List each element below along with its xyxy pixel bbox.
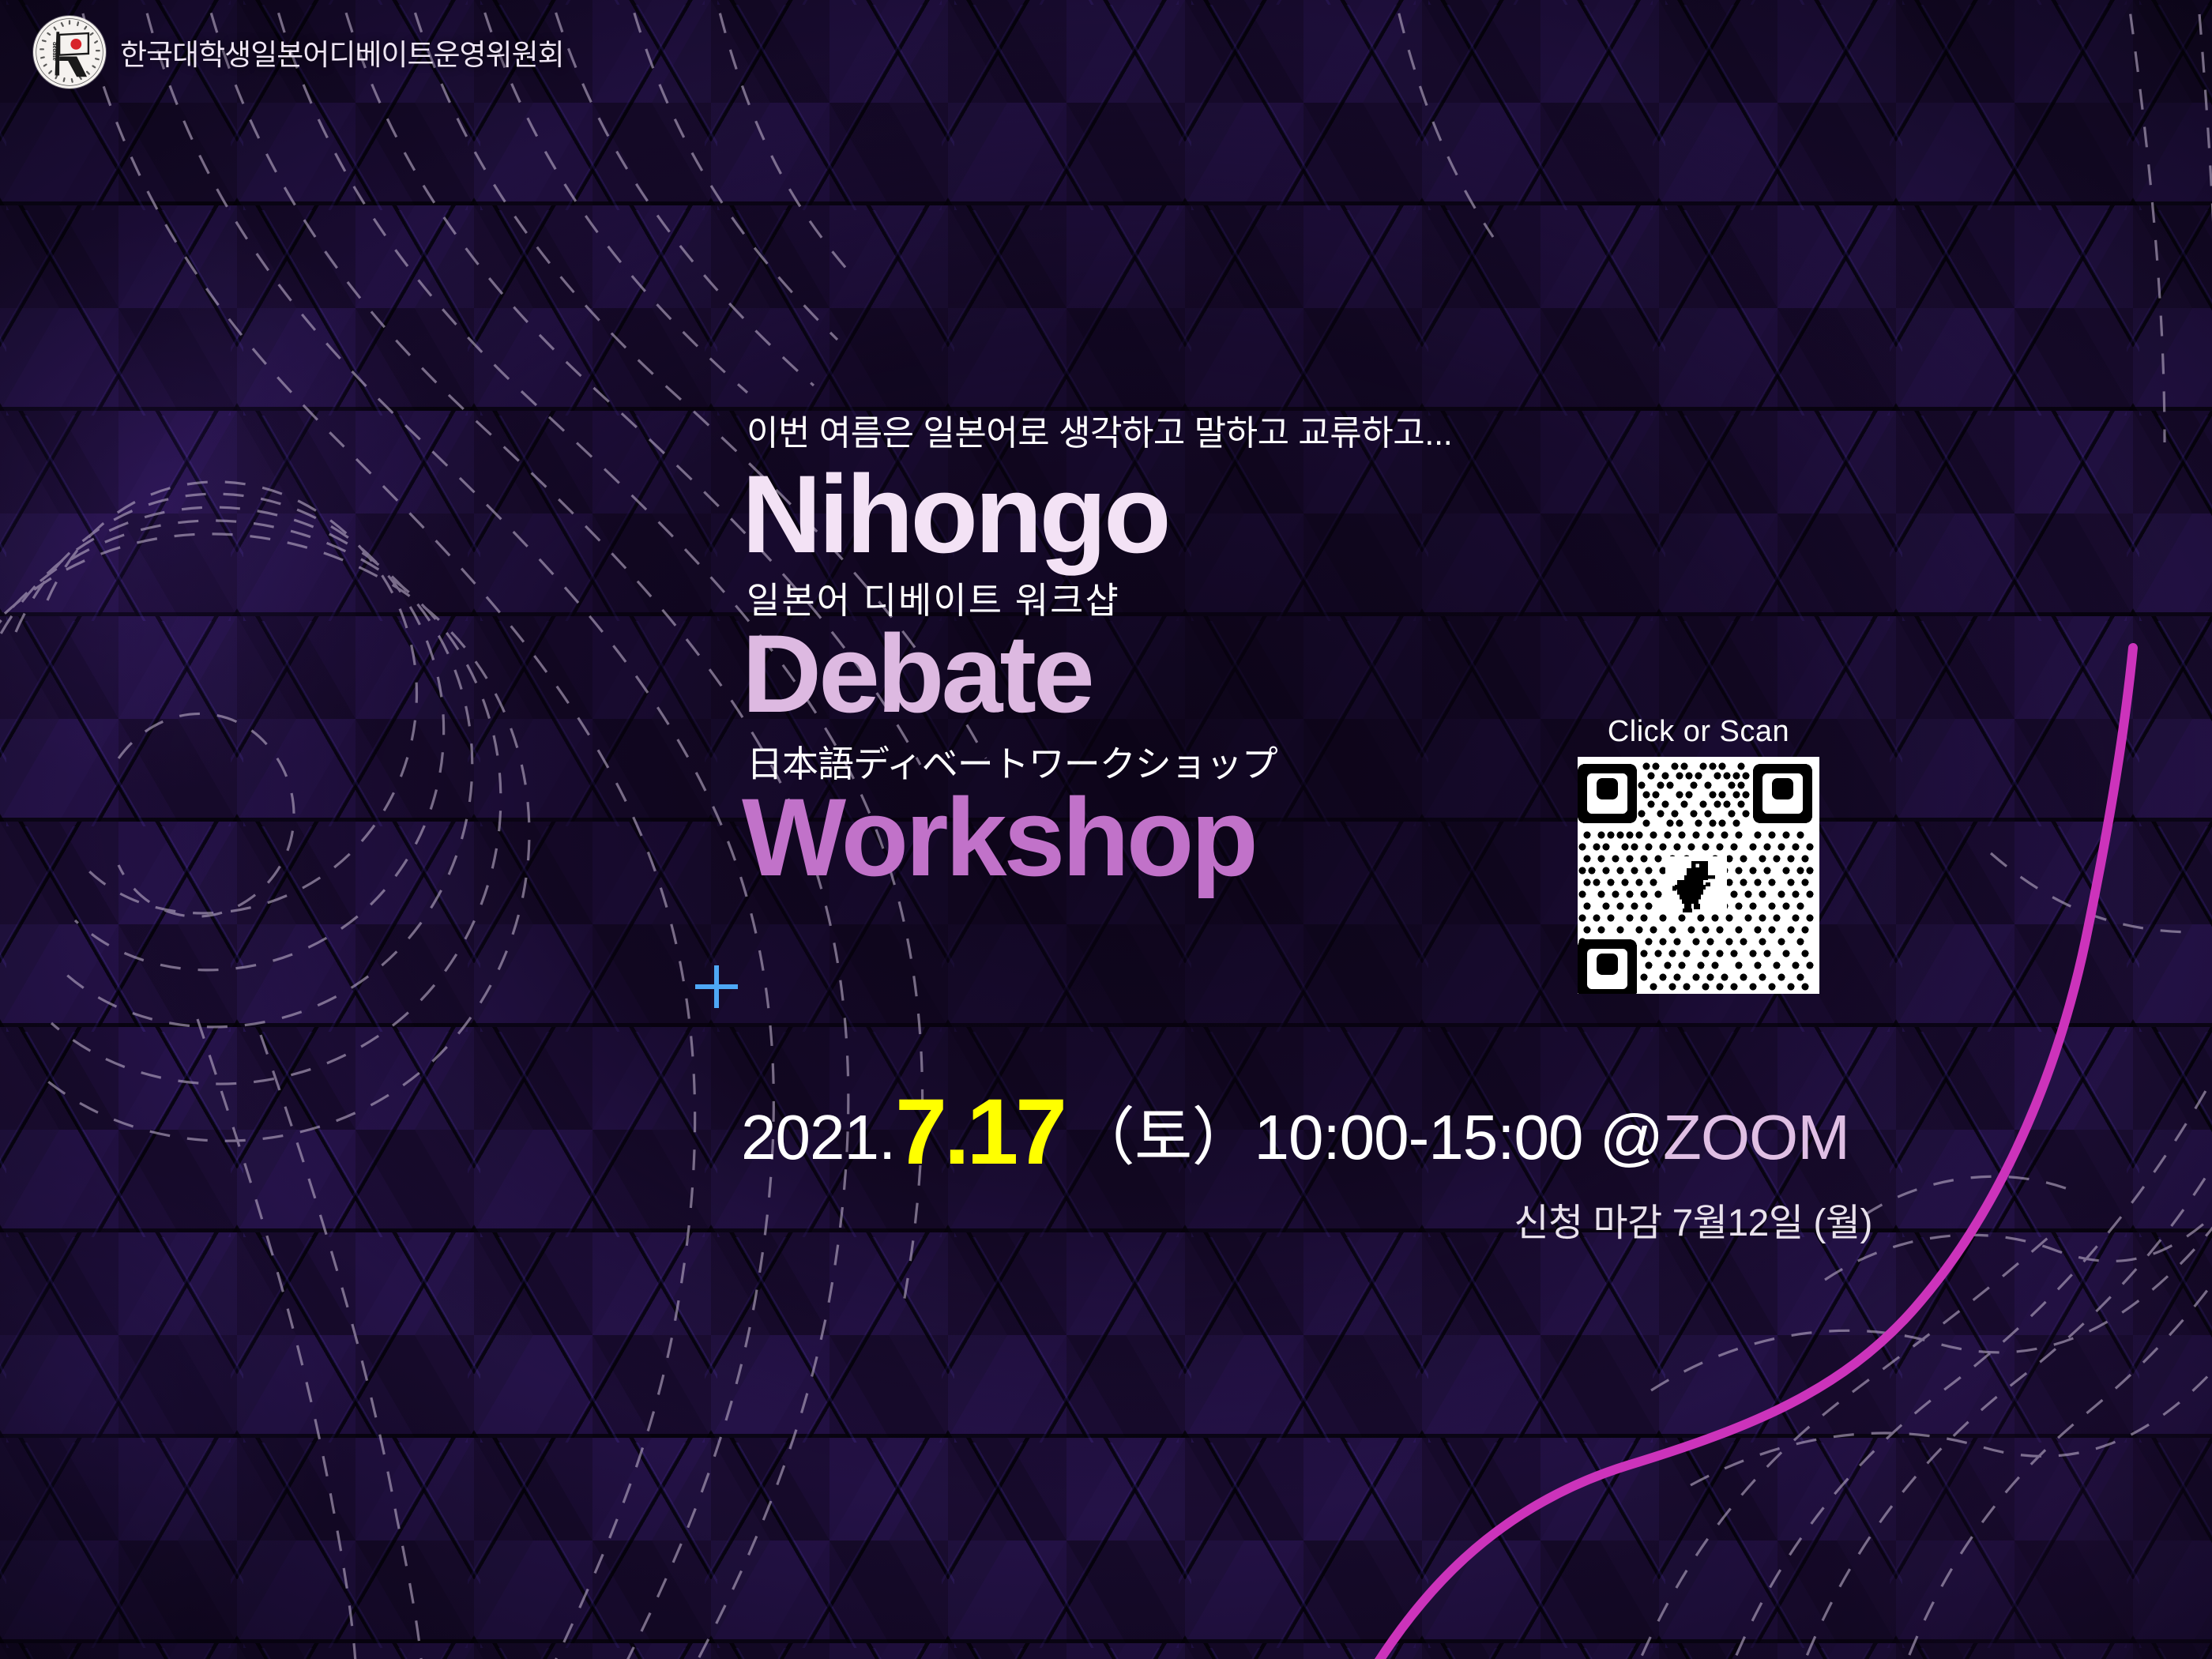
application-deadline: 신청 마감 7월12일 (월) [1514,1191,1872,1247]
organization-logo-icon: debate [33,16,106,88]
header: debate 한국대학생일본어디베이트운영위원회 [33,16,564,88]
event-date-line: 2021. 7.17 （토）10:00-15:00 @ ZOOM [741,1081,1849,1178]
event-time: （토）10:00-15:00 @ [1072,1086,1663,1178]
qr-section[interactable]: Click or Scan [1568,715,1829,994]
headline-debate: Debate [742,621,1774,727]
organization-name: 한국대학생일본어디베이트운영위원회 [120,31,564,73]
tagline: 이번 여름은 일본어로 생각하고 말하고 교류하고... [747,404,1774,455]
headline-nihongo: Nihongo [742,461,1774,567]
qr-label: Click or Scan [1568,715,1829,749]
plus-decoration-icon [695,965,738,1008]
svg-text:debate: debate [51,42,58,61]
poster-canvas: debate 한국대학생일본어디베이트운영위원회 이번 여름은 일본어로 생각하… [0,0,2212,1659]
logo-mark-icon: debate [33,16,106,88]
event-day-highlight: 7.17 [895,1085,1064,1179]
qr-code-graphic[interactable] [1578,757,1819,994]
event-year: 2021. [741,1101,895,1174]
qr-code[interactable] [1578,757,1819,994]
event-platform: ZOOM [1663,1101,1849,1174]
